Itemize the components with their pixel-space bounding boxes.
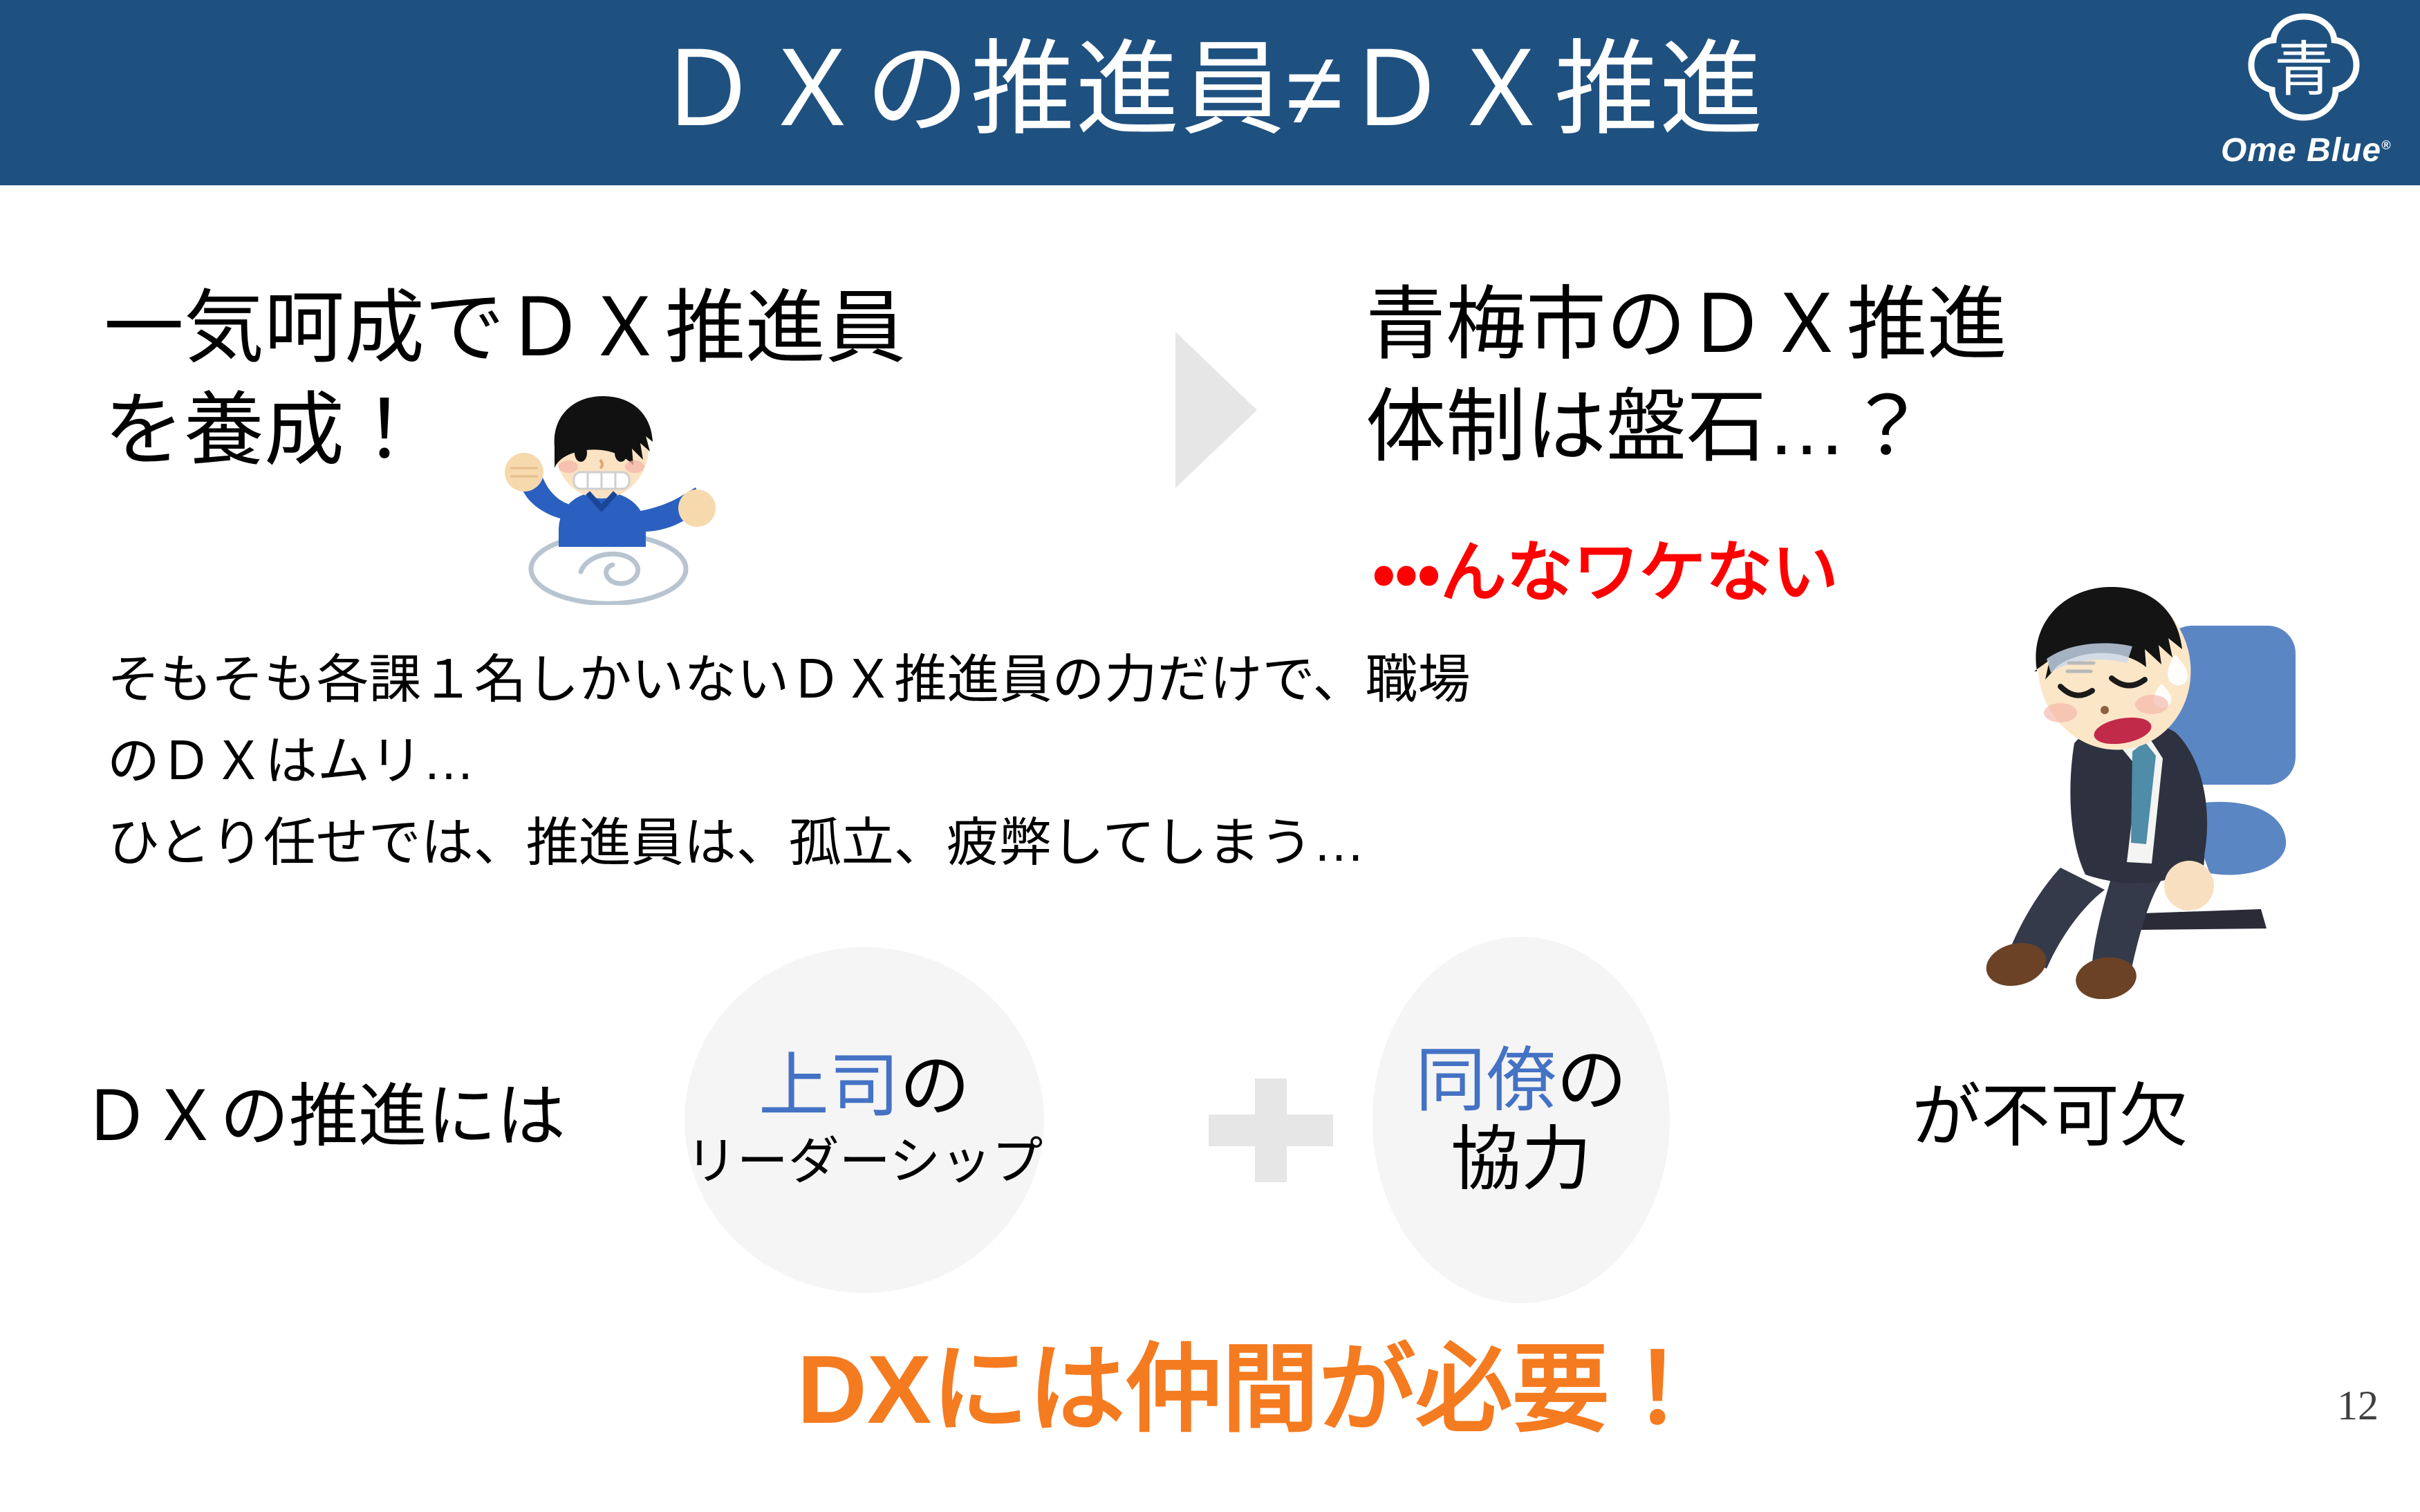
formula-prefix-label: ＤＸの推進には <box>82 1075 566 1158</box>
plus-icon <box>1209 1079 1333 1182</box>
body-line-2: のＤＸはムリ… <box>107 721 1919 803</box>
determined-running-person-illustration <box>477 384 726 605</box>
bubble-boss-accent: 上司 <box>758 1047 900 1126</box>
bubble-boss-sub: リーダーシップ <box>686 1130 1043 1193</box>
slide-header-bar: ＤＸの推進員≠ＤＸ推進 青 Ome Blue® <box>0 0 2420 185</box>
logo-wordmark-text: Ome Blue <box>2221 132 2381 169</box>
page-number: 12 <box>2337 1383 2379 1428</box>
bubble-peer-main: 同僚の <box>1415 1042 1627 1119</box>
body-line-3: ひとり任せでは、推進員は、孤立、疲弊してしまう… <box>107 803 1919 884</box>
bubble-peer-accent: 同僚 <box>1415 1041 1556 1120</box>
red-annotation: ・・・んなワケない <box>1372 536 1839 610</box>
bubble-peer-cooperation: 同僚の 協力 <box>1372 937 1670 1303</box>
logo-kanji-ao: 青 <box>2244 10 2363 126</box>
bubble-boss-leadership: 上司の リーダーシップ <box>685 947 1044 1293</box>
logo-wordmark: Ome Blue® <box>2221 131 2387 169</box>
right-arrow-icon <box>1175 332 1257 488</box>
exhausted-businessman-illustration <box>1957 577 2399 999</box>
left-heading-line-1: 一気呵成でＤＸ推進員 <box>104 277 906 379</box>
bubble-boss-particle: の <box>900 1047 970 1126</box>
plus-icon-vertical <box>1255 1079 1287 1182</box>
ome-blue-logo: 青 Ome Blue® <box>2221 10 2387 183</box>
bubble-peer-particle: の <box>1556 1041 1627 1120</box>
bubble-boss-main: 上司の <box>758 1047 970 1125</box>
conclusion-message: DXには仲間が必要！ <box>0 1331 2420 1448</box>
body-line-1: そもそも各課１名しかいないＤＸ推進員の力だけで、職場 <box>107 640 1919 721</box>
slide-canvas: ＤＸの推進員≠ＤＸ推進 青 Ome Blue® 一気呵成でＤＸ推進員 を養成！ <box>0 0 2420 1512</box>
body-paragraph: そもそも各課１名しかいないＤＸ推進員の力だけで、職場 のＤＸはムリ… ひとり任せ… <box>107 640 1919 884</box>
page-title: ＤＸの推進員≠ＤＸ推進 <box>0 24 2420 155</box>
registered-trademark-icon: ® <box>2381 138 2391 152</box>
cloud-blossom-icon: 青 <box>2244 10 2363 126</box>
right-heading-line-2: 体制は盤石…？ <box>1366 375 2007 478</box>
bubble-peer-sub: 協力 <box>1451 1121 1592 1198</box>
right-heading-line-1: 青梅市のＤＸ推進 <box>1366 273 2007 375</box>
right-heading-block: 青梅市のＤＸ推進 体制は盤石…？ <box>1366 273 2007 478</box>
formula-suffix-label: が不可欠 <box>1912 1075 2188 1158</box>
